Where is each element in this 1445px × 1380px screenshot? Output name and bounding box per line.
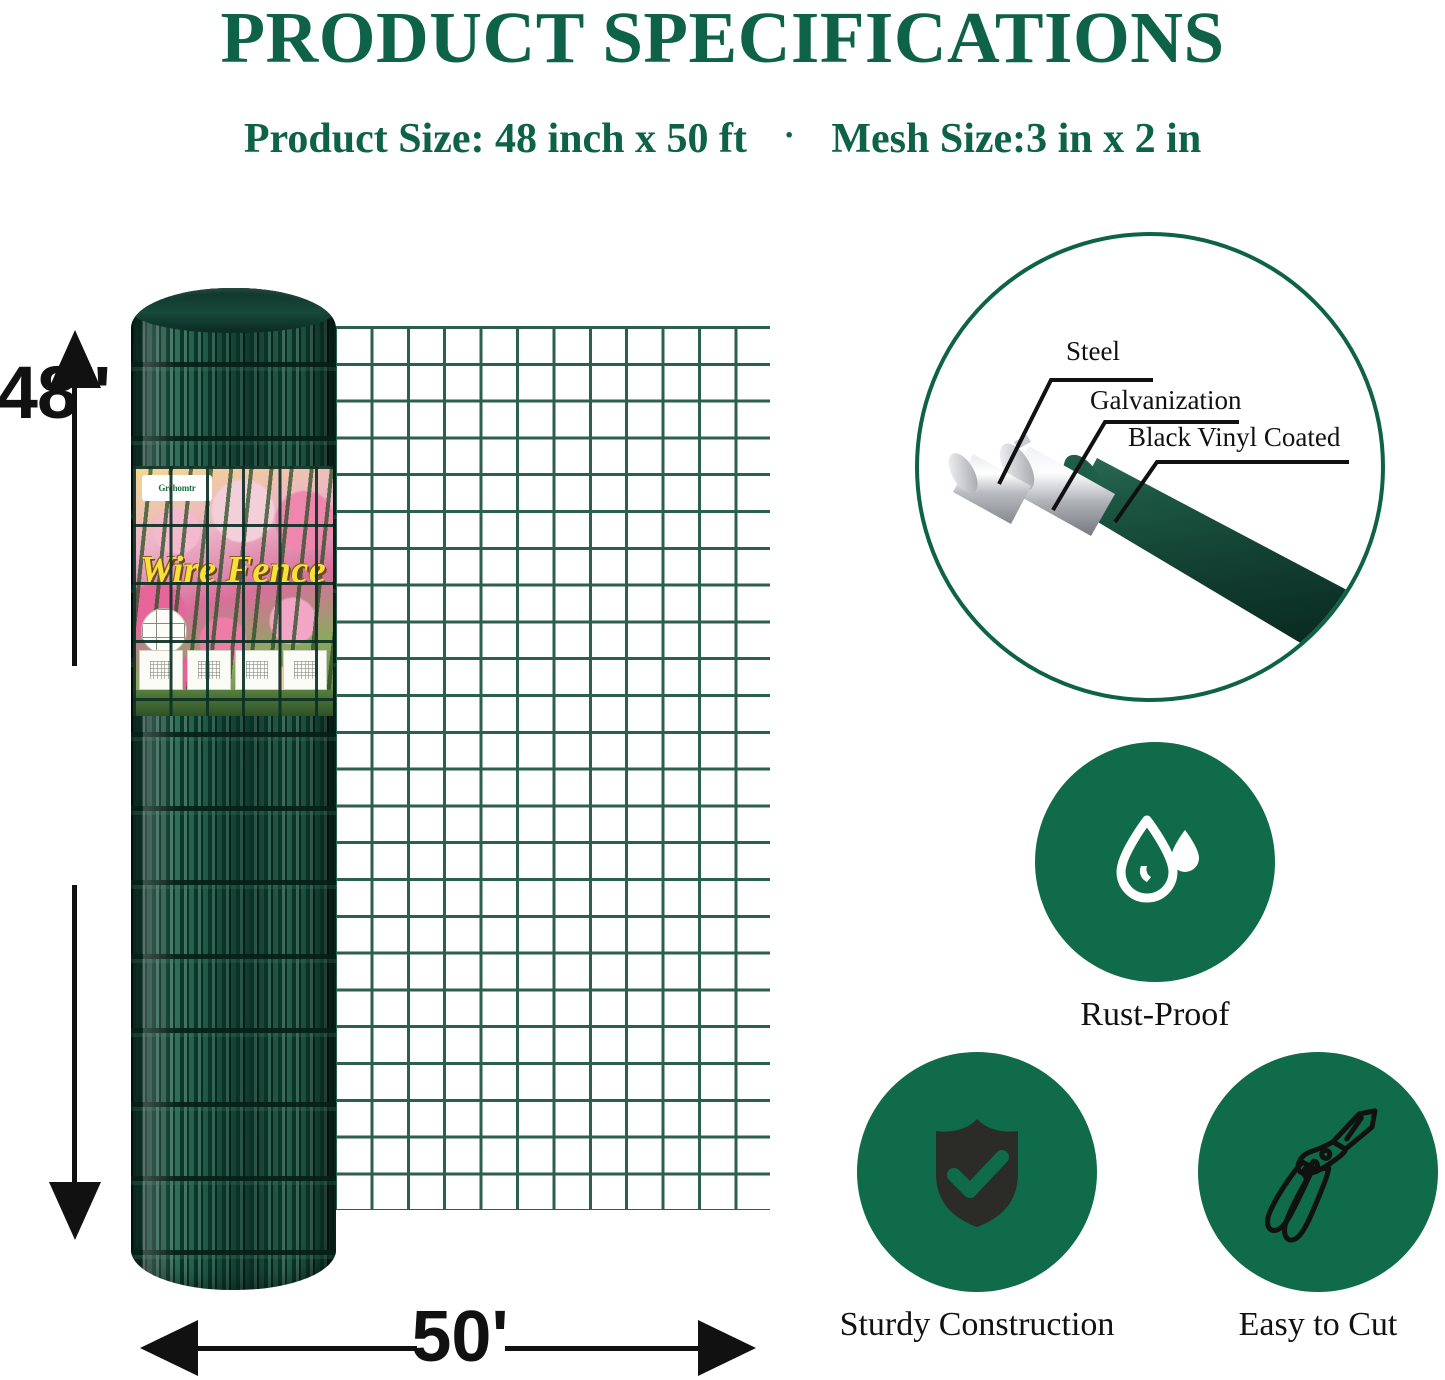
pliers-icon (1243, 1097, 1393, 1247)
feature-label: Rust-Proof (1035, 996, 1275, 1034)
feature-easy-to-cut: Easy to Cut (1198, 1052, 1438, 1344)
feature-label: Sturdy Construction (829, 1306, 1125, 1344)
feature-label: Easy to Cut (1180, 1306, 1445, 1344)
wire-fence-roll (131, 288, 336, 1290)
roll-top-edge (131, 288, 336, 333)
spec-subtitle: Product Size: 48 inch x 50 ft · Mesh Siz… (0, 115, 1445, 163)
feature-circle (1035, 742, 1275, 982)
height-dimension-arrow (20, 330, 130, 1290)
callout-label-vinyl: Black Vinyl Coated (1128, 422, 1340, 453)
width-dimension-arrow: 50' (140, 1318, 760, 1380)
arrow-head-down-icon (49, 1182, 101, 1240)
roll-bottom-edge (131, 1247, 336, 1290)
dimension-line-left (192, 1346, 417, 1351)
arrow-head-right-icon (698, 1320, 756, 1376)
dimension-line-right (505, 1346, 700, 1351)
spec-mesh-size: Mesh Size:3 in x 2 in (831, 116, 1201, 162)
feature-rust-proof: Rust-Proof (1035, 742, 1275, 1034)
wire-cutaway-svg (919, 236, 1381, 698)
callout-label-galvanization: Galvanization (1090, 385, 1241, 416)
water-drop-icon (1097, 804, 1213, 920)
wire-construction-diagram (915, 232, 1385, 702)
feature-circle (1198, 1052, 1438, 1292)
height-dimension-label: 48" (0, 350, 134, 435)
separator-dot: · (758, 117, 821, 155)
flat-wire-mesh-panel (334, 326, 770, 1210)
callout-label-steel: Steel (1066, 336, 1120, 367)
shield-check-icon (914, 1109, 1040, 1235)
width-dimension-label: 50' (395, 1296, 525, 1378)
mesh-over-label (133, 466, 333, 716)
dimension-line-lower (72, 885, 77, 1185)
roll-highlight (143, 288, 176, 1290)
arrow-head-left-icon (140, 1320, 198, 1376)
feature-circle (857, 1052, 1097, 1292)
feature-sturdy-construction: Sturdy Construction (857, 1052, 1097, 1344)
vinyl-sheath (1055, 448, 1381, 666)
page-title: PRODUCT SPECIFICATIONS (0, 0, 1445, 80)
spec-product-size: Product Size: 48 inch x 50 ft (244, 116, 747, 162)
